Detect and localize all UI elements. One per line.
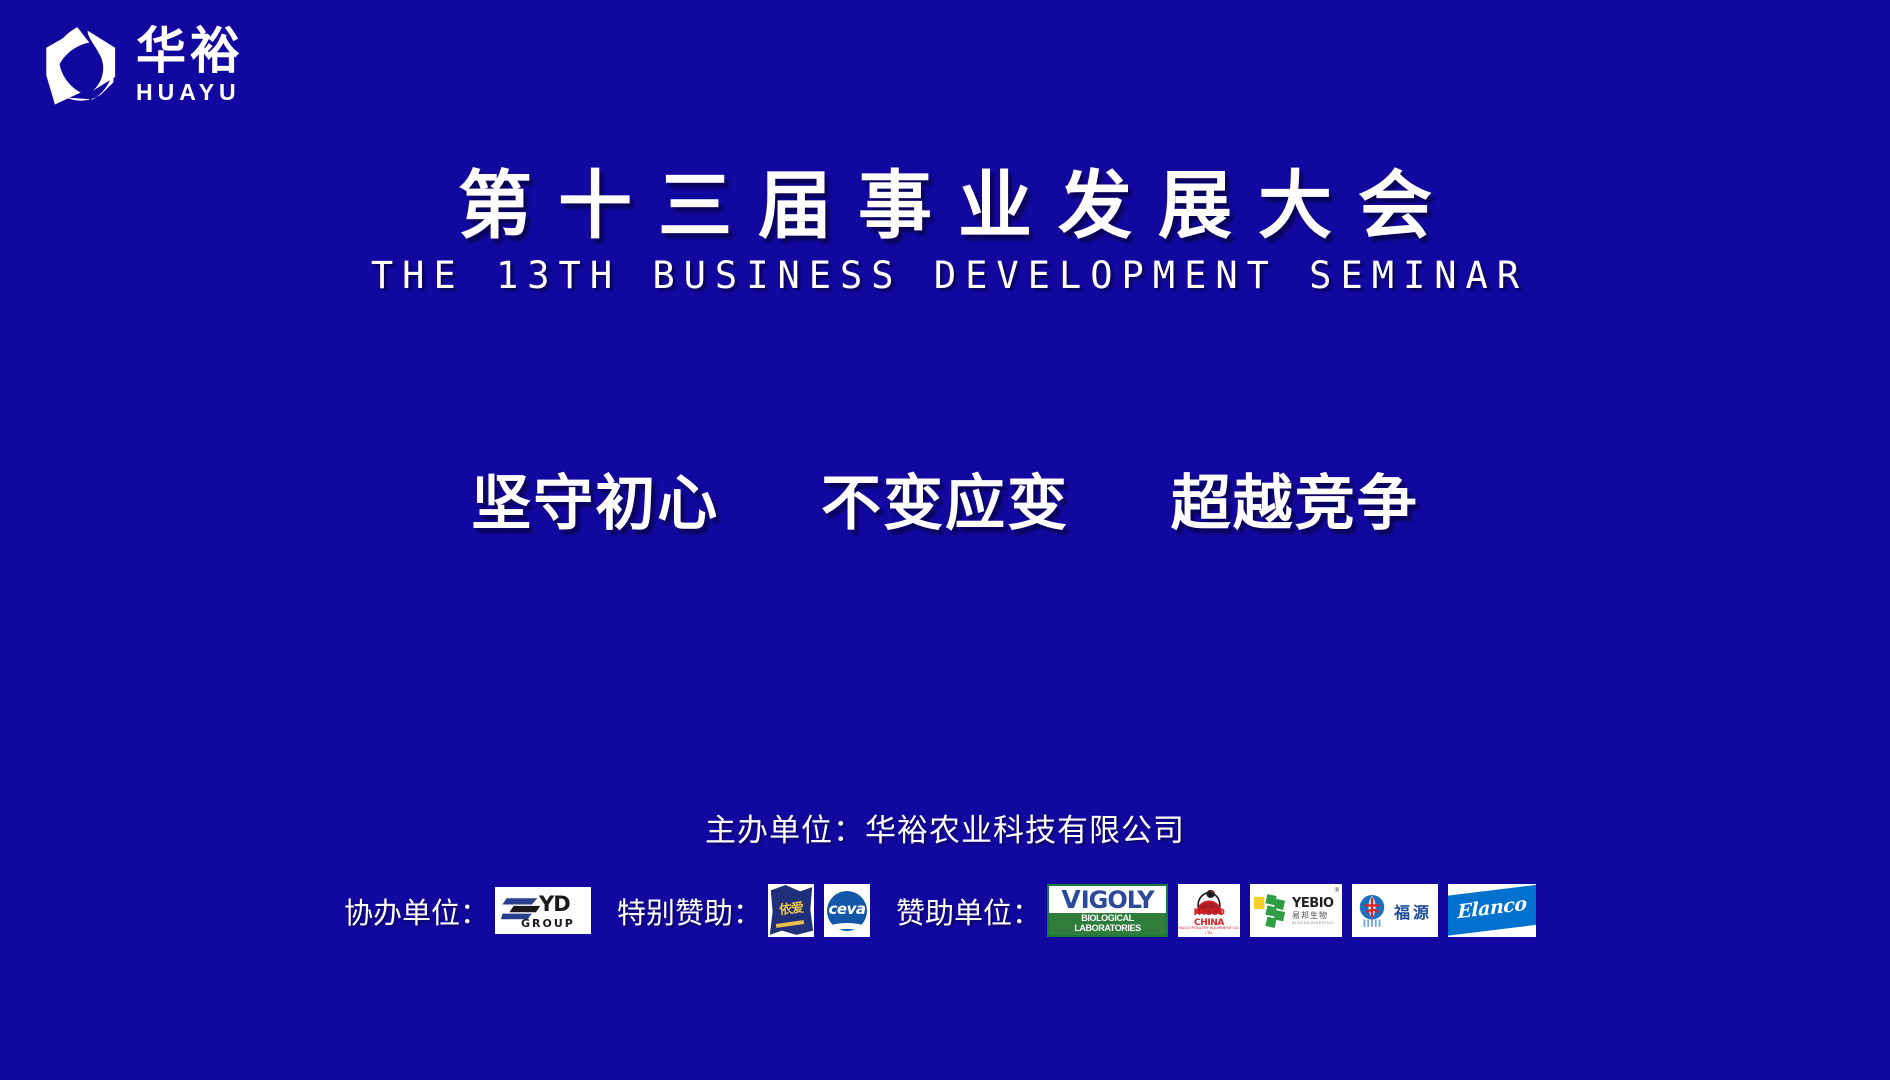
slogan-part-1: 坚守初心 [471, 469, 719, 539]
organizer-line: 主办单位：华裕农业科技有限公司 [0, 805, 1890, 850]
yiai-mark: 依爱 [768, 884, 814, 937]
fuyuan-mark-icon [1356, 894, 1388, 928]
syd-subtext: GROUP [521, 917, 575, 930]
logo-yebio: YEBIO 易邦生物 BIOENGINEERING ® [1250, 884, 1342, 937]
brand-wordmark: 华裕 HUAYU [136, 26, 244, 104]
brand-name-en: HUAYU [136, 81, 244, 104]
yebio-name-cn: 易邦生物 [1292, 912, 1334, 920]
yebio-subtext: BIOENGINEERING [1292, 921, 1334, 925]
trademark-icon: ™ [1527, 923, 1532, 929]
registered-mark-icon: ® [1335, 888, 1339, 894]
coorganizer-label: 协办单位： [344, 890, 489, 932]
title-block: 第十三届事业发展大会 THE 13TH BUSINESS DEVELOPMENT… [0, 168, 1890, 297]
syd-wordmark: YD [539, 892, 570, 916]
slogan-part-3: 超越竞争 [1171, 469, 1419, 539]
brand-logo: 华裕 HUAYU [36, 22, 244, 108]
logo-facco-china: FACCO CHINA FACCO POULTRY EQUIPMENT CO.,… [1178, 884, 1240, 937]
yiai-streak-icon [776, 920, 804, 928]
huayu-hexagon-swirl-icon [36, 22, 122, 108]
logo-yiai: 依爱 [768, 884, 814, 937]
yebio-mark-icon [1254, 894, 1288, 928]
logo-vigoly: V IGOLY BIOLOGICAL LABORATORIES [1047, 884, 1168, 937]
sponsor-strip: 协办单位： YD GROUP 特别赞助： 依爱 c [0, 884, 1890, 937]
ceva-mark: ceva [827, 891, 867, 931]
vigoly-wordmark: IGOLY [1081, 888, 1154, 912]
slogan: 坚守初心 不变应变 超越竞争 [0, 455, 1890, 542]
slogan-part-2: 不变应变 [821, 469, 1069, 539]
brand-name-cn: 华裕 [136, 26, 244, 76]
ceva-wordmark: ceva [827, 900, 867, 918]
yiai-wordmark: 依爱 [768, 896, 814, 920]
logo-fuyuan: 福源 [1352, 884, 1438, 937]
logo-elanco: Elanco ™ [1448, 884, 1536, 937]
logo-ceva: ceva [824, 884, 870, 937]
vigoly-subtext: BIOLOGICAL LABORATORIES [1049, 913, 1166, 935]
logo-syd-group: YD GROUP [495, 887, 591, 934]
fuyuan-wordmark: 福源 [1394, 899, 1432, 923]
page-title-cn: 第十三届事业发展大会 [0, 168, 1890, 246]
vigoly-v-glyph: V [1061, 887, 1080, 912]
page-title-en: THE 13TH BUSINESS DEVELOPMENT SEMINAR [0, 254, 1890, 297]
facco-subtext: FACCO POULTRY EQUIPMENT CO., LTD. [1178, 925, 1240, 935]
yebio-wordmark: YEBIO [1292, 897, 1334, 910]
poster-stage: 华裕 HUAYU 第十三届事业发展大会 THE 13TH BUSINESS DE… [0, 0, 1890, 1080]
sponsor-label: 赞助单位： [896, 890, 1041, 932]
special-sponsor-label: 特别赞助： [617, 890, 762, 932]
